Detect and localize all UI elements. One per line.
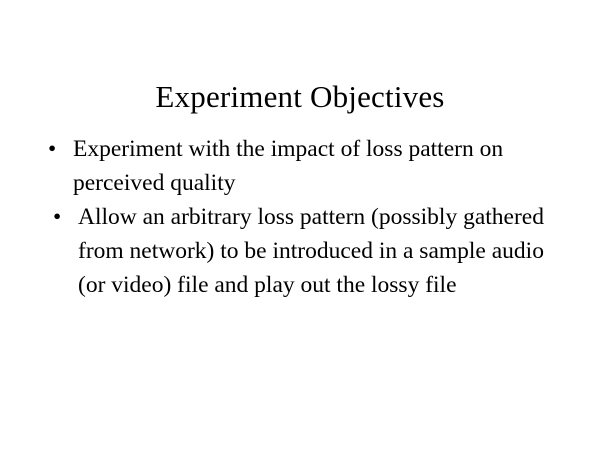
list-item: • Allow an arbitrary loss pattern (possi… — [40, 200, 556, 302]
bullet-point-icon: • — [48, 132, 68, 166]
page-title: Experiment Objectives — [0, 79, 600, 115]
list-item-text: Experiment with the impact of loss patte… — [73, 132, 556, 200]
slide-canvas: Experiment Objectives • Experiment with … — [0, 0, 600, 450]
list-item: • Experiment with the impact of loss pat… — [40, 132, 556, 200]
bullet-list: • Experiment with the impact of loss pat… — [40, 132, 556, 302]
list-item-text: Allow an arbitrary loss pattern (possibl… — [78, 200, 556, 302]
bullet-point-icon: • — [53, 200, 73, 234]
slide-body: • Experiment with the impact of loss pat… — [40, 132, 556, 302]
